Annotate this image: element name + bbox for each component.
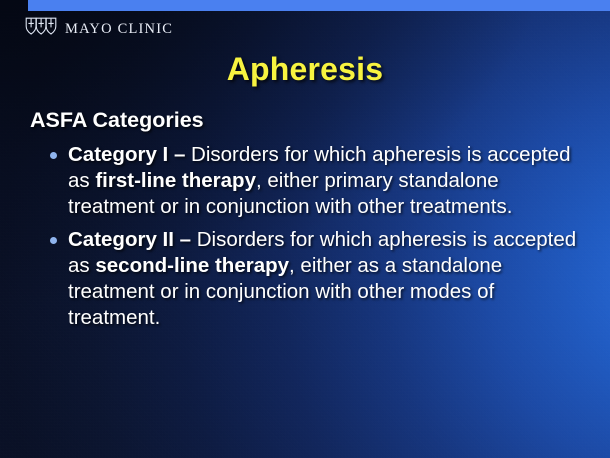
- slide-title: Apheresis: [0, 51, 610, 88]
- slide-subheading: ASFA Categories: [30, 108, 590, 133]
- bullet-item-1-emphasis: first-line therapy: [95, 169, 256, 192]
- bullet-dot-icon: [50, 237, 57, 244]
- list-item: Category II – Disorders for which aphere…: [30, 227, 590, 331]
- presentation-slide: MAYO CLINIC Apheresis ASFA Categories Ca…: [0, 0, 610, 458]
- top-accent-bar: [28, 0, 610, 11]
- bullet-item-2-text: Category II – Disorders for which aphere…: [68, 227, 590, 331]
- mayo-clinic-triple-shield-icon: [25, 17, 57, 41]
- bullet-item-2-emphasis: second-line therapy: [95, 254, 289, 277]
- mayo-clinic-wordmark: MAYO CLINIC: [65, 21, 173, 38]
- bullet-item-2-dash: –: [174, 228, 197, 251]
- bullet-dot-icon: [50, 152, 57, 159]
- bullet-item-2-lead: Category II: [68, 228, 174, 251]
- bullet-item-1-lead: Category I: [68, 143, 168, 166]
- bullet-item-1-text: Category I – Disorders for which apheres…: [68, 142, 590, 220]
- slide-body: ASFA Categories Category I – Disorders f…: [30, 108, 590, 338]
- list-item: Category I – Disorders for which apheres…: [30, 142, 590, 220]
- mayo-clinic-logo: MAYO CLINIC: [25, 17, 173, 41]
- bullet-item-1-dash: –: [168, 143, 191, 166]
